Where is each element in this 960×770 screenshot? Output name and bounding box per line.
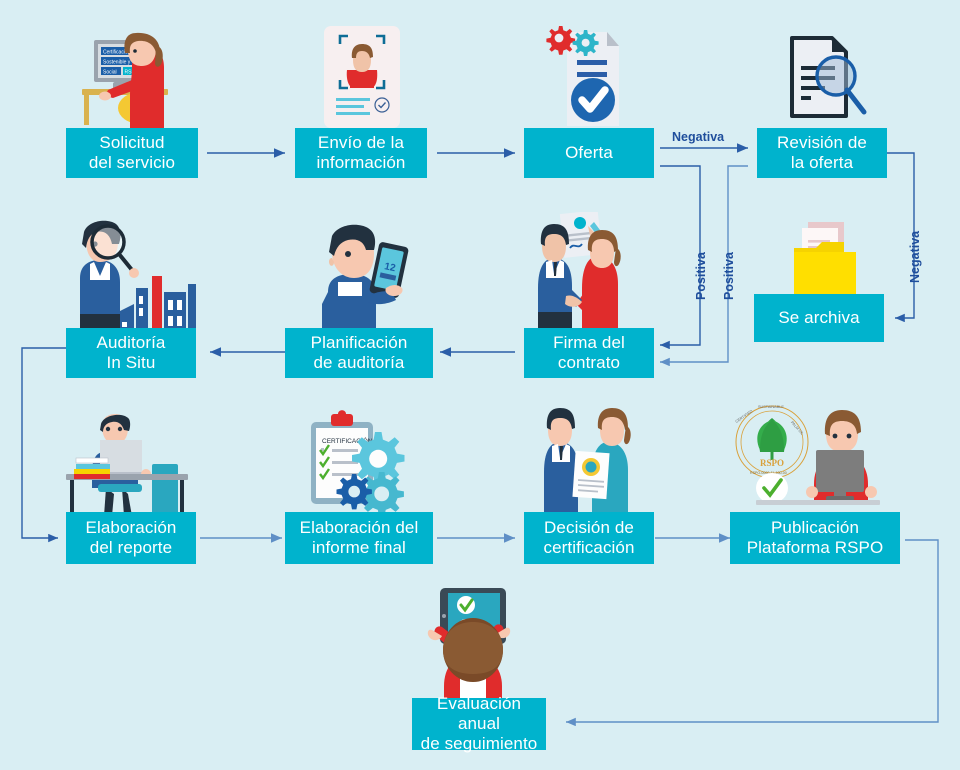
node-label-oferta[interactable]: Oferta — [524, 128, 654, 178]
node-label-evaluacion[interactable]: Evaluación anual de seguimiento — [412, 698, 546, 750]
node-label-decision[interactable]: Decisión de certificación — [524, 512, 654, 564]
node-line1: Elaboración — [86, 518, 177, 538]
edge-label-negativa-top: Negativa — [672, 130, 724, 144]
node-label-planificacion[interactable]: Planificación de auditoría — [285, 328, 433, 378]
node-label-archiva[interactable]: Se archiva — [754, 294, 884, 342]
two-people-certificate-icon — [530, 408, 650, 516]
node-label-publicacion[interactable]: Publicación Plataforma RSPO — [730, 512, 900, 564]
person-computer-rspo-icon: RSPO RSPO-0000-11-100-00 CERTIFIED SUSTA… — [728, 404, 888, 514]
node-line1: Se archiva — [778, 308, 859, 328]
node-line2: de seguimiento — [418, 734, 540, 754]
node-label-firma[interactable]: Firma del contrato — [524, 328, 654, 378]
edge-label-positiva-inner: Positiva — [694, 252, 708, 300]
person-at-computer-icon: Certificación Sostenible y Social RSPO — [72, 22, 192, 132]
node-line2: informe final — [300, 538, 419, 558]
edge-publicacion-to-evaluacion — [566, 540, 938, 722]
node-line2: del reporte — [86, 538, 177, 558]
node-line2: certificación — [543, 538, 634, 558]
svg-text:Social: Social — [103, 70, 117, 76]
svg-text:RSPO: RSPO — [760, 458, 784, 468]
flowchart-canvas: Negativa Negativa Positiva Positiva Cert… — [0, 0, 960, 770]
document-magnifier-icon — [784, 32, 870, 128]
node-line1: Elaboración del — [300, 518, 419, 538]
node-label-auditoria[interactable]: Auditoría In Situ — [66, 328, 196, 378]
clipboard-gears-icon: CERTIFICACIÓN — [305, 410, 421, 516]
node-line2: In Situ — [97, 353, 166, 373]
node-label-informe[interactable]: Elaboración del informe final — [285, 512, 433, 564]
node-line2: Plataforma RSPO — [747, 538, 884, 558]
person-smartphone-icon: 12 — [310, 222, 420, 332]
node-label-solicitud[interactable]: Solicitud del servicio — [66, 128, 198, 178]
node-line1: Publicación — [747, 518, 884, 538]
node-line1: Solicitud — [89, 133, 175, 153]
node-line2: la oferta — [777, 153, 867, 173]
node-line1: Planificación — [311, 333, 408, 353]
node-label-revision[interactable]: Revisión de la oferta — [757, 128, 887, 178]
node-line2: información — [317, 153, 406, 173]
node-line1: Revisión de — [777, 133, 867, 153]
handshake-signature-icon — [520, 212, 642, 330]
svg-text:Sostenible y: Sostenible y — [103, 60, 131, 66]
id-document-icon — [320, 26, 404, 130]
svg-text:CERTIFIED: CERTIFIED — [735, 409, 754, 424]
node-line1: Firma del — [553, 333, 625, 353]
node-line1: Evaluación anual — [418, 694, 540, 734]
node-line1: Auditoría — [97, 333, 166, 353]
node-line2: contrato — [553, 353, 625, 373]
node-line1: Oferta — [565, 143, 613, 163]
node-line2: del servicio — [89, 153, 175, 173]
node-label-envio[interactable]: Envío de la información — [295, 128, 427, 178]
folder-documents-icon — [786, 218, 864, 300]
node-label-reporte[interactable]: Elaboración del reporte — [66, 512, 196, 564]
edge-label-positiva-outer: Positiva — [722, 252, 736, 300]
node-line1: Envío de la — [317, 133, 406, 153]
auditor-magnifier-factory-icon — [64, 218, 200, 330]
edge-label-negativa-right: Negativa — [908, 231, 922, 283]
document-gears-check-icon — [545, 18, 629, 130]
node-line2: de auditoría — [311, 353, 408, 373]
svg-text:SUSTAINABLE: SUSTAINABLE — [758, 405, 784, 409]
node-line1: Decisión de — [543, 518, 634, 538]
person-desk-laptop-icon — [60, 412, 198, 516]
person-tablet-checklist-icon — [418, 588, 538, 706]
